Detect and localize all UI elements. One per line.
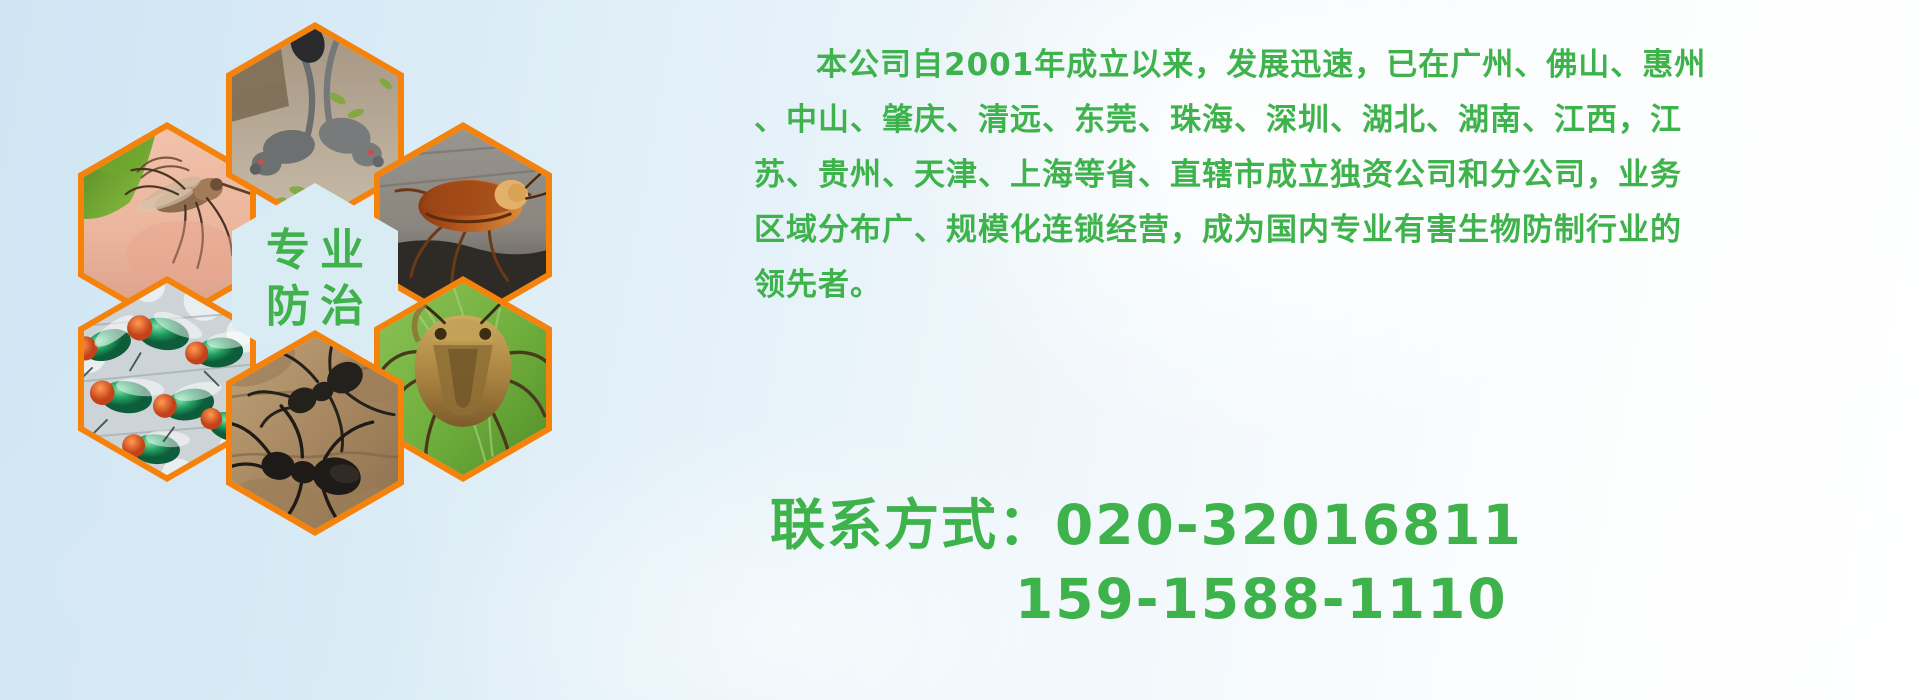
contact-block: 联系方式：020-32016811 159-1588-1110 bbox=[770, 488, 1900, 636]
description-line-4: 区域分布广、规模化连锁经营，成为国内专业有害生物防制行业的 bbox=[754, 203, 1874, 258]
hex-photo-stinkbug-image bbox=[380, 283, 546, 475]
hex-photo-ants-image bbox=[232, 337, 398, 529]
ants-illustration bbox=[232, 337, 398, 529]
stinkbug-illustration bbox=[380, 283, 546, 475]
phone-secondary[interactable]: 159-1588-1110 bbox=[1015, 567, 1508, 631]
company-description: 本公司自2001年成立以来，发展迅速，已在广州、佛山、惠州 、中山、肇庆、清远、… bbox=[754, 38, 1874, 313]
hex-photo-flies-image bbox=[84, 283, 250, 475]
description-line-1: 本公司自2001年成立以来，发展迅速，已在广州、佛山、惠州 bbox=[754, 38, 1874, 93]
pest-control-banner: 专业 防治 bbox=[0, 0, 1920, 700]
contact-label: 联系方式： bbox=[770, 493, 1055, 557]
slogan-line-1: 专业 bbox=[256, 229, 374, 273]
phone-primary[interactable]: 020-32016811 bbox=[1055, 493, 1523, 557]
flies-illustration bbox=[84, 283, 250, 475]
description-line-2: 、中山、肇庆、清远、东莞、珠海、深圳、湖北、湖南、江西，江 bbox=[754, 93, 1874, 148]
description-line-3: 苏、贵州、天津、上海等省、直辖市成立独资公司和分公司，业务 bbox=[754, 148, 1874, 203]
contact-primary-line[interactable]: 联系方式：020-32016811 bbox=[770, 488, 1900, 562]
slogan-line-2: 防治 bbox=[256, 285, 374, 329]
honeycomb-gallery: 专业 防治 bbox=[78, 0, 598, 566]
description-line-5: 领先者。 bbox=[754, 258, 1874, 313]
contact-secondary-line[interactable]: 159-1588-1110 bbox=[770, 562, 1900, 636]
